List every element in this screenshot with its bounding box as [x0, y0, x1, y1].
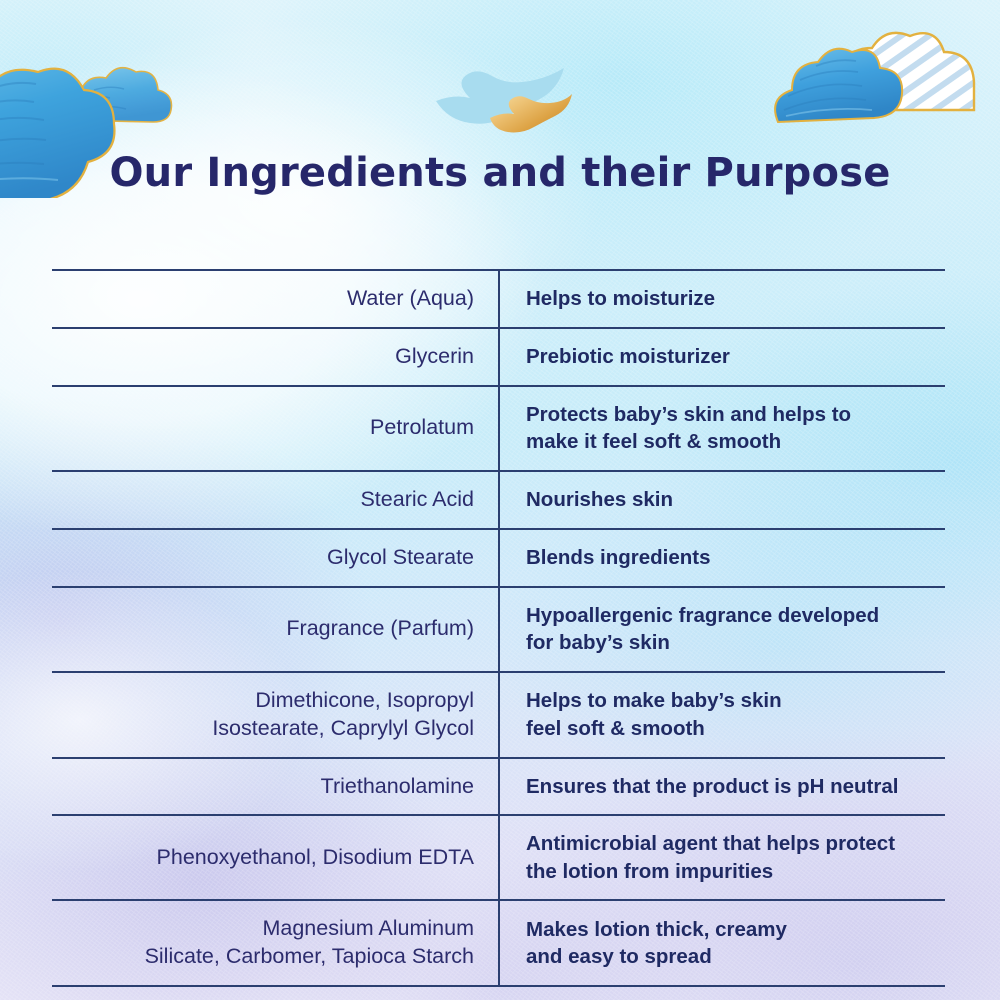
ingredient-name: Triethanolamine [52, 759, 498, 815]
table-row: Glycerin Prebiotic moisturizer [52, 327, 945, 385]
table-row: Dimethicone, Isopropyl Isostearate, Capr… [52, 671, 945, 757]
dove-logo-icon [430, 62, 572, 139]
table-row: Petrolatum Protects baby’s skin and help… [52, 385, 945, 470]
table-row: Glycol Stearate Blends ingredients [52, 528, 945, 586]
ingredient-purpose: Prebiotic moisturizer [498, 329, 945, 385]
table-row: Stearic Acid Nourishes skin [52, 470, 945, 528]
ingredient-purpose: Ensures that the product is pH neutral [498, 759, 945, 815]
table-row: Triethanolamine Ensures that the product… [52, 757, 945, 815]
ingredient-purpose: Blends ingredients [498, 530, 945, 586]
ingredient-name: Petrolatum [52, 387, 498, 470]
ingredient-purpose: Antimicrobial agent that helps protect t… [498, 816, 945, 899]
table-row: Fragrance (Parfum) Hypoallergenic fragra… [52, 586, 945, 671]
ingredient-name: Fragrance (Parfum) [52, 588, 498, 671]
table-row: Phenoxyethanol, Disodium EDTA Antimicrob… [52, 814, 945, 899]
ingredient-purpose: Protects baby’s skin and helps to make i… [498, 387, 945, 470]
ingredient-name: Magnesium Aluminum Silicate, Carbomer, T… [52, 901, 498, 985]
table-row: Magnesium Aluminum Silicate, Carbomer, T… [52, 899, 945, 987]
ingredients-table: Water (Aqua) Helps to moisturize Glyceri… [52, 269, 945, 987]
ingredient-purpose: Hypoallergenic fragrance developed for b… [498, 588, 945, 671]
ingredient-name: Phenoxyethanol, Disodium EDTA [52, 816, 498, 899]
page-title: Our Ingredients and their Purpose [0, 150, 1000, 196]
ingredient-purpose: Makes lotion thick, creamy and easy to s… [498, 901, 945, 985]
ingredient-name: Glycerin [52, 329, 498, 385]
ingredient-purpose: Helps to make baby’s skin feel soft & sm… [498, 673, 945, 757]
ingredient-name: Water (Aqua) [52, 271, 498, 327]
ingredient-purpose: Nourishes skin [498, 472, 945, 528]
table-row: Water (Aqua) Helps to moisturize [52, 269, 945, 327]
ingredient-poster: Our Ingredients and their Purpose Water … [0, 0, 1000, 1000]
ingredient-name: Stearic Acid [52, 472, 498, 528]
ingredient-purpose: Helps to moisturize [498, 271, 945, 327]
ingredient-name: Dimethicone, Isopropyl Isostearate, Capr… [52, 673, 498, 757]
ingredient-name: Glycol Stearate [52, 530, 498, 586]
